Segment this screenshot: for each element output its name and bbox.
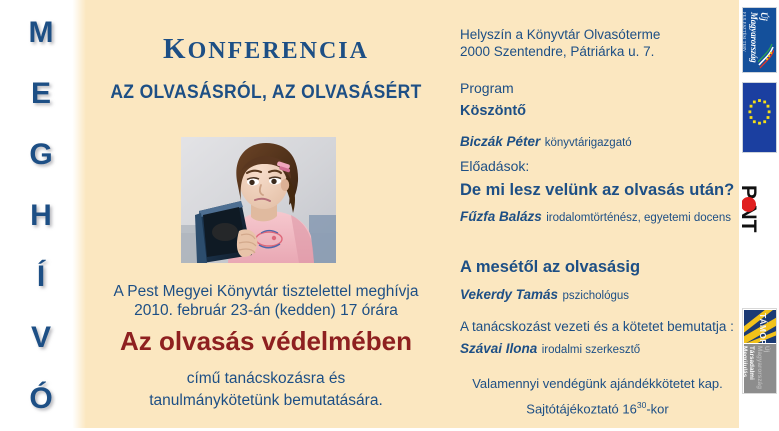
meghivo-vertical-title: M E G H Í V Ó (18, 18, 64, 414)
talks-label: Előadások: (460, 158, 529, 174)
invitation-poster: M E G H Í V Ó Konferencia AZ OLVASÁSRÓL,… (0, 0, 779, 431)
greeting-speaker-role: könyvtárigazgató (545, 137, 632, 149)
girl-reading-photo (181, 137, 336, 263)
meghivo-letter: E (31, 79, 51, 109)
umft-swoosh-icon (758, 43, 774, 69)
meghivo-letter: G (29, 140, 52, 170)
press-note-minutes: 30 (637, 400, 646, 410)
talk-1-speaker: Fűzfa Balázs irodalomtörténész, egyetemi… (460, 208, 731, 226)
tamop-program-text: Új Magyarország Társadalmi Megújulás Ope… (742, 346, 770, 392)
invite-line-2: 2010. február 23-án (kedden) 17 órára (88, 302, 444, 320)
pont-kiado-logo: P NT K●adó (742, 172, 777, 250)
closing-line-2: tanulmánykötetünk bemutatására. (88, 392, 444, 410)
subtitle: AZ OLVASÁSRÓL, AZ OLVASÁSÉRT (102, 82, 430, 104)
program-column: Helyszín a Könyvtár Olvasóterme 2000 Sze… (460, 0, 735, 428)
umft-subtext: FEJLESZTÉSI TERV (742, 12, 749, 70)
program-label: Program (460, 80, 514, 96)
sponsor-logo-strip: Új Magyarország FEJLESZTÉSI TERV (741, 0, 779, 431)
talk-2-title: A mesétől az olvasásig (460, 258, 640, 277)
talk-1-title: De mi lesz velünk az olvasás után? (460, 181, 734, 200)
greeting-label: Köszöntő (460, 103, 526, 119)
talk-1-speaker-role: irodalomtörténész, egyetemi docens (546, 212, 731, 224)
press-conference-note: Sajtótájékoztató 1630-kor (460, 400, 735, 416)
european-union-flag-logo (742, 82, 777, 153)
tamop-wordmark: TÁMOP (758, 313, 768, 343)
closing-line-1: című tanácskozásra és (88, 370, 444, 388)
moderator-speaker: Szávai Ilona irodalmi szerkesztő (460, 340, 640, 358)
meghivo-letter: H (30, 201, 52, 231)
main-title: Konferencia (88, 20, 444, 68)
meghivo-letter: Í (37, 262, 45, 292)
eu-stars-icon (743, 83, 776, 152)
talk-2-speaker-role: pszichológus (563, 290, 629, 302)
gift-note: Valamennyi vendégünk ajándékkötetet kap. (460, 376, 735, 391)
event-headline: Az olvasás védelmében (88, 326, 444, 357)
tamop-program-line-1: Új Magyarország (756, 346, 770, 389)
venue-line-1: Helyszín a Könyvtár Olvasóterme (460, 26, 660, 43)
tamop-logo: TÁMOP Új Magyarország Társadalmi Megújul… (742, 308, 777, 394)
greeting-speaker-name: Biczák Péter (460, 134, 540, 149)
meghivo-letter: M (29, 18, 54, 48)
venue-block: Helyszín a Könyvtár Olvasóterme 2000 Sze… (460, 26, 660, 60)
moderator-intro: A tanácskozást vezeti és a kötetet bemut… (460, 319, 734, 334)
tamop-program-strip: Új Magyarország Társadalmi Megújulás Ope… (744, 344, 777, 394)
meghivo-letter: Ó (29, 384, 52, 414)
pont-logo-inner: P NT K●adó (742, 174, 759, 248)
uj-magyarorszag-fejlesztesi-terv-logo: Új Magyarország FEJLESZTÉSI TERV (742, 7, 777, 73)
moderator-role: irodalmi szerkesztő (542, 344, 640, 356)
meghivo-letter: V (31, 323, 51, 353)
talk-2-speaker: Vekerdy Tamás pszichológus (460, 286, 629, 304)
talk-1-speaker-name: Fűzfa Balázs (460, 209, 542, 224)
tamop-program-line-2: Társadalmi Megújulás (742, 346, 755, 380)
venue-line-2: 2000 Szentendre, Pátriárka u. 7. (460, 43, 660, 60)
moderator-name: Szávai Ilona (460, 341, 537, 356)
press-note-prefix: Sajtótájékoztató 16 (526, 401, 637, 416)
greeting-speaker: Biczák Péter könyvtárigazgató (460, 133, 632, 151)
left-column: Konferencia AZ OLVASÁSRÓL, AZ OLVASÁSÉRT (88, 0, 444, 428)
press-note-suffix: -kor (646, 401, 668, 416)
tamop-badge: TÁMOP (744, 310, 777, 343)
talk-2-speaker-name: Vekerdy Tamás (460, 287, 558, 302)
invite-line-1: A Pest Megyei Könyvtár tisztelettel megh… (88, 283, 444, 301)
